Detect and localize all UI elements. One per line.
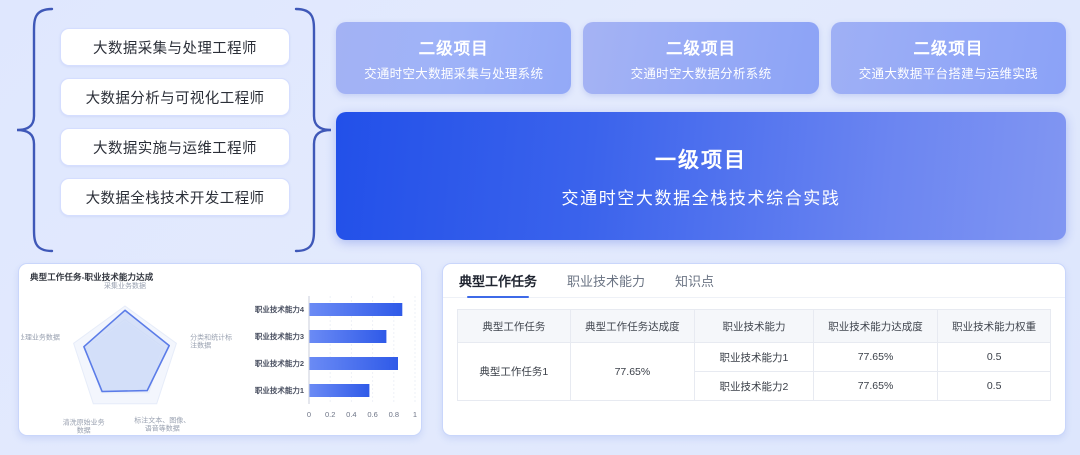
level1-banner[interactable]: 一级项目 交通时空大数据全栈技术综合实践 (336, 112, 1066, 240)
level2-card-subtitle: 交通时空大数据分析系统 (631, 63, 772, 82)
role-label: 大数据全栈技术开发工程师 (86, 187, 265, 208)
level1-banner-subtitle: 交通时空大数据全栈技术综合实践 (562, 184, 841, 209)
chart-body: 采集业务数据分类和统计标注数据标注文本、图像、语音等数据清洗原始业务数据处理业务… (19, 284, 422, 436)
cell-ability-achievement: 77.65% (813, 372, 938, 401)
level2-card-title: 二级项目 (666, 35, 736, 59)
column-header-ability: 职业技术能力 (695, 310, 814, 343)
svg-text:数据: 数据 (77, 426, 91, 435)
level2-card-title: 二级项目 (913, 35, 983, 59)
role-card[interactable]: 大数据分析与可视化工程师 (60, 78, 290, 116)
level2-card-subtitle: 交通时空大数据采集与处理系统 (364, 63, 543, 82)
column-header-task-achievement: 典型工作任务达成度 (570, 310, 695, 343)
level2-card-row: 二级项目 交通时空大数据采集与处理系统 二级项目 交通时空大数据分析系统 二级项… (336, 22, 1066, 94)
cell-ability-achievement: 77.65% (813, 343, 938, 372)
role-card[interactable]: 大数据全栈技术开发工程师 (60, 178, 290, 216)
column-header-ability-weight: 职业技术能力权重 (938, 310, 1051, 343)
column-header-ability-achievement: 职业技术能力达成度 (813, 310, 938, 343)
level2-card[interactable]: 二级项目 交通时空大数据采集与处理系统 (336, 22, 571, 94)
level2-card-title: 二级项目 (419, 35, 489, 59)
level2-card[interactable]: 二级项目 交通时空大数据分析系统 (583, 22, 818, 94)
cell-task-achievement: 77.65% (570, 343, 695, 401)
svg-text:0: 0 (307, 410, 311, 419)
page-root: 大数据采集与处理工程师 大数据分析与可视化工程师 大数据实施与运维工程师 大数据… (0, 0, 1080, 455)
tab-vocational-skill[interactable]: 职业技术能力 (567, 264, 645, 298)
level2-card-subtitle: 交通大数据平台搭建与运维实践 (859, 63, 1038, 82)
role-label: 大数据采集与处理工程师 (93, 37, 257, 58)
tab-label: 知识点 (675, 271, 714, 290)
svg-text:1: 1 (413, 410, 417, 419)
role-card[interactable]: 大数据采集与处理工程师 (60, 28, 290, 66)
cell-ability-name: 职业技术能力2 (695, 372, 814, 401)
radar-chart: 采集业务数据分类和统计标注数据标注文本、图像、语音等数据清洗原始业务数据处理业务… (21, 282, 249, 436)
svg-text:职业技术能力3: 职业技术能力3 (255, 331, 304, 341)
svg-text:采集业务数据: 采集业务数据 (104, 282, 146, 290)
tab-label: 典型工作任务 (459, 271, 537, 290)
cell-ability-name: 职业技术能力1 (695, 343, 814, 372)
table-panel: 典型工作任务 职业技术能力 知识点 典型工作任务 典型工作任务达成度 职业技术能… (442, 263, 1066, 436)
table-row[interactable]: 典型工作任务1 77.65% 职业技术能力1 77.65% 0.5 (458, 343, 1051, 372)
tab-bar: 典型工作任务 职业技术能力 知识点 (443, 264, 1065, 298)
table-head: 典型工作任务 典型工作任务达成度 职业技术能力 职业技术能力达成度 职业技术能力… (458, 310, 1051, 343)
svg-text:职业技术能力4: 职业技术能力4 (255, 304, 305, 314)
svg-text:0.8: 0.8 (389, 410, 399, 419)
svg-text:0.6: 0.6 (367, 410, 377, 419)
left-brace-icon (12, 4, 58, 256)
tab-typical-work-task[interactable]: 典型工作任务 (459, 264, 537, 298)
svg-text:处理业务数据: 处理业务数据 (21, 333, 60, 342)
cell-task-name: 典型工作任务1 (458, 343, 571, 401)
svg-text:职业技术能力1: 职业技术能力1 (255, 385, 304, 395)
role-label: 大数据分析与可视化工程师 (86, 87, 265, 108)
tab-label: 职业技术能力 (567, 271, 645, 290)
right-brace-icon (290, 4, 336, 256)
tab-knowledge-point[interactable]: 知识点 (675, 264, 714, 298)
role-label: 大数据实施与运维工程师 (93, 137, 257, 158)
svg-text:分类和统计标: 分类和统计标 (190, 333, 232, 342)
table-header-row: 典型工作任务 典型工作任务达成度 职业技术能力 职业技术能力达成度 职业技术能力… (458, 310, 1051, 343)
svg-text:注数据: 注数据 (190, 341, 211, 350)
level1-banner-title: 一级项目 (655, 144, 747, 174)
level2-card[interactable]: 二级项目 交通大数据平台搭建与运维实践 (831, 22, 1066, 94)
table-body: 典型工作任务1 77.65% 职业技术能力1 77.65% 0.5 职业技术能力… (458, 343, 1051, 401)
cell-ability-weight: 0.5 (938, 372, 1051, 401)
bar-chart: 职业技术能力1职业技术能力2职业技术能力3职业技术能力400.20.40.60.… (247, 286, 422, 436)
svg-text:标注文本、图像、: 标注文本、图像、 (134, 416, 190, 425)
chart-panel: 典型工作任务-职业技术能力达成 采集业务数据分类和统计标注数据标注文本、图像、语… (18, 263, 422, 436)
role-card[interactable]: 大数据实施与运维工程师 (60, 128, 290, 166)
roles-zone: 大数据采集与处理工程师 大数据分析与可视化工程师 大数据实施与运维工程师 大数据… (8, 4, 338, 256)
achievement-table: 典型工作任务 典型工作任务达成度 职业技术能力 职业技术能力达成度 职业技术能力… (457, 309, 1051, 401)
table-wrapper: 典型工作任务 典型工作任务达成度 职业技术能力 职业技术能力达成度 职业技术能力… (443, 298, 1065, 401)
cell-ability-weight: 0.5 (938, 343, 1051, 372)
svg-text:清洗原始业务: 清洗原始业务 (63, 418, 105, 427)
svg-text:职业技术能力2: 职业技术能力2 (255, 358, 304, 368)
svg-text:0.2: 0.2 (325, 410, 335, 419)
role-list: 大数据采集与处理工程师 大数据分析与可视化工程师 大数据实施与运维工程师 大数据… (60, 28, 290, 216)
column-header-task: 典型工作任务 (458, 310, 571, 343)
svg-text:0.4: 0.4 (346, 410, 356, 419)
svg-text:语音等数据: 语音等数据 (145, 424, 180, 433)
